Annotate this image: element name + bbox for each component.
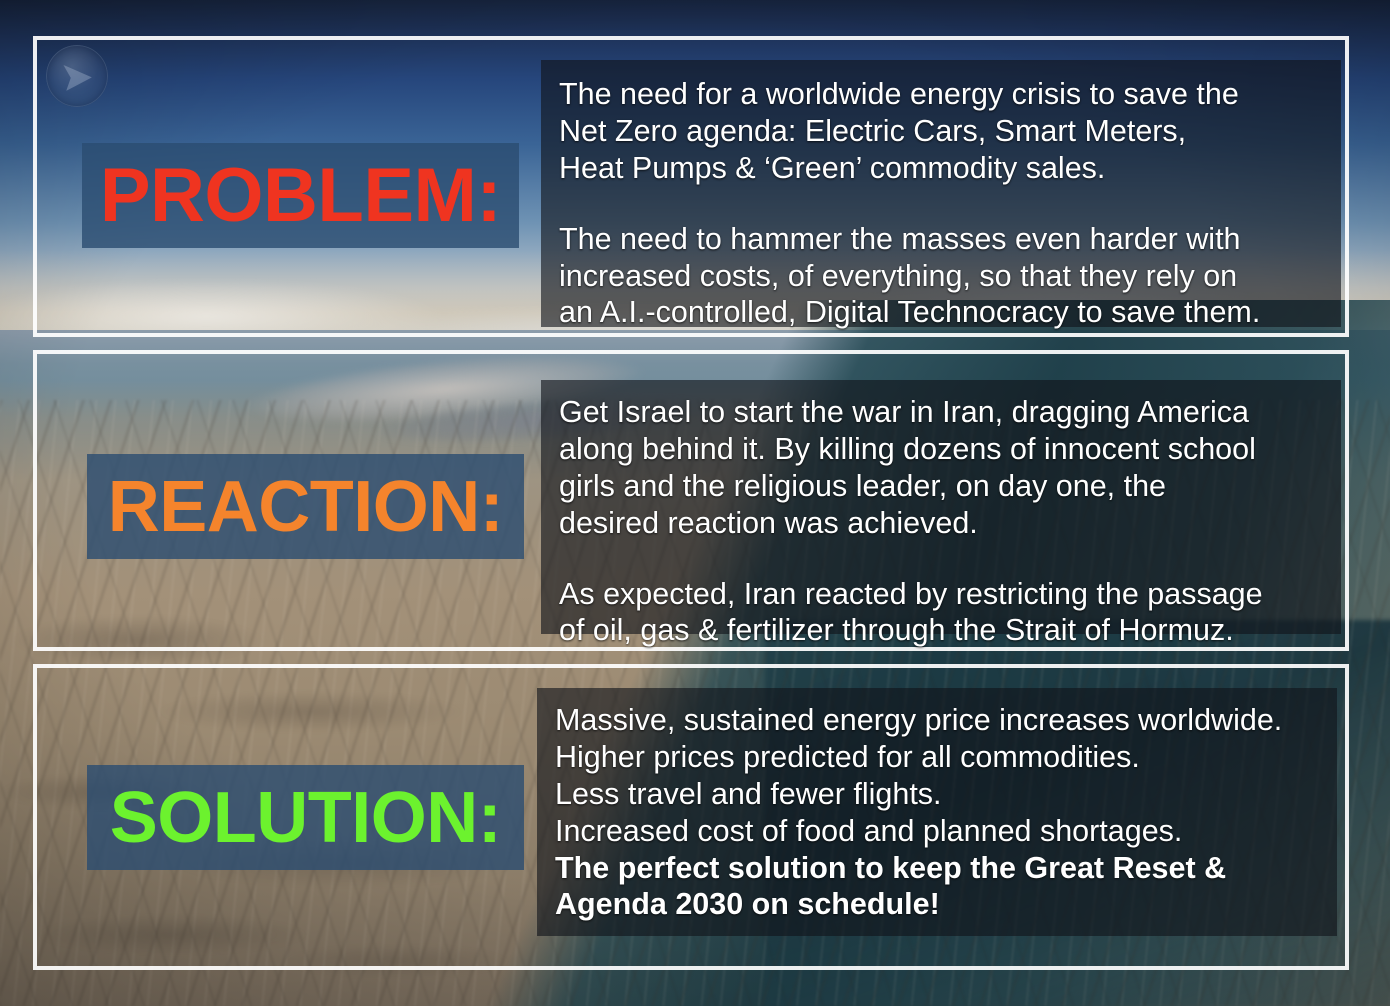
reaction-text-box: Get Israel to start the war in Iran, dra… xyxy=(541,380,1341,634)
solution-label-text: SOLUTION: xyxy=(110,782,501,854)
solution-text-box: Massive, sustained energy price increase… xyxy=(537,688,1337,936)
reaction-label-text: REACTION: xyxy=(108,471,503,543)
section-panel-problem: PROBLEM: The need for a worldwide energy… xyxy=(33,36,1349,337)
problem-label-text: PROBLEM: xyxy=(100,158,501,234)
reaction-paragraph-1: Get Israel to start the war in Iran, dra… xyxy=(559,394,1327,542)
problem-text-box: The need for a worldwide energy crisis t… xyxy=(541,60,1341,327)
section-panel-reaction: REACTION: Get Israel to start the war in… xyxy=(33,350,1349,651)
solution-paragraph-2: The perfect solution to keep the Great R… xyxy=(555,850,1323,924)
problem-paragraph-1: The need for a worldwide energy crisis t… xyxy=(559,76,1327,187)
problem-paragraph-2: The need to hammer the masses even harde… xyxy=(559,221,1327,332)
solution-label-chip: SOLUTION: xyxy=(87,765,524,870)
poster-image: PROBLEM: The need for a worldwide energy… xyxy=(0,0,1390,1006)
section-panel-solution: SOLUTION: Massive, sustained energy pric… xyxy=(33,664,1349,970)
reaction-label-chip: REACTION: xyxy=(87,454,524,559)
solution-paragraph-1: Massive, sustained energy price increase… xyxy=(555,702,1323,850)
problem-label-chip: PROBLEM: xyxy=(82,143,519,248)
reaction-paragraph-2: As expected, Iran reacted by restricting… xyxy=(559,576,1327,650)
